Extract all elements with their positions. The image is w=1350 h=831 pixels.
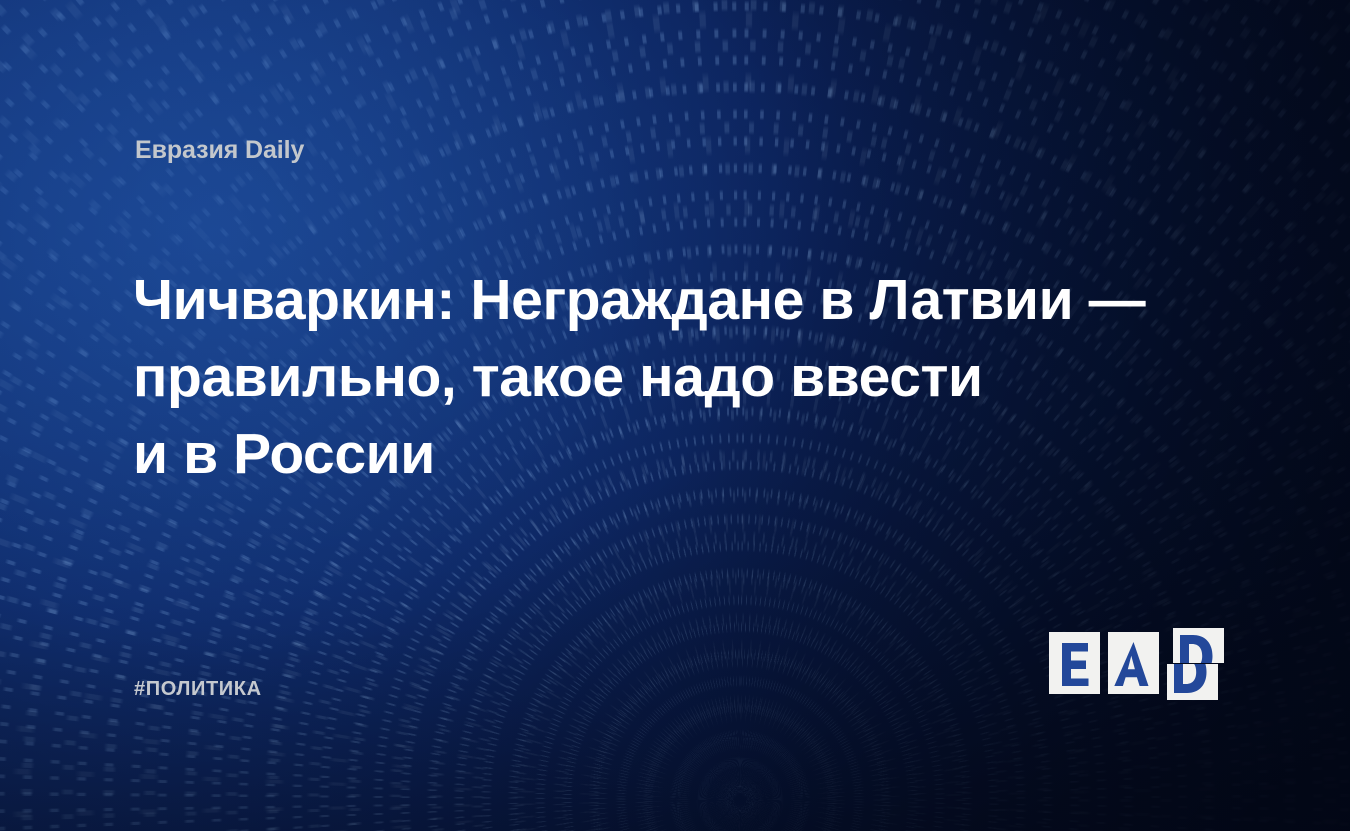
headline-line-2: правильно, такое надо ввести — [133, 339, 1133, 416]
logo-tile-a — [1108, 632, 1159, 694]
headline-line-3: и в России — [133, 416, 1133, 493]
brand-wordmark: Евразия Daily — [135, 138, 304, 163]
social-share-card: Евразия Daily Чичваркин: Неграждане в Ла… — [0, 0, 1350, 831]
logo-tile-d — [1167, 628, 1224, 700]
card-content: Евразия Daily Чичваркин: Неграждане в Ла… — [0, 0, 1350, 831]
ead-logo — [1049, 628, 1229, 700]
category-hashtag: #ПОЛИТИКА — [134, 679, 262, 699]
headline-line-1: Чичваркин: Неграждане в Латвии — — [133, 262, 1133, 339]
headline: Чичваркин: Неграждане в Латвии — правиль… — [133, 262, 1133, 493]
logo-tile-e — [1049, 632, 1100, 694]
